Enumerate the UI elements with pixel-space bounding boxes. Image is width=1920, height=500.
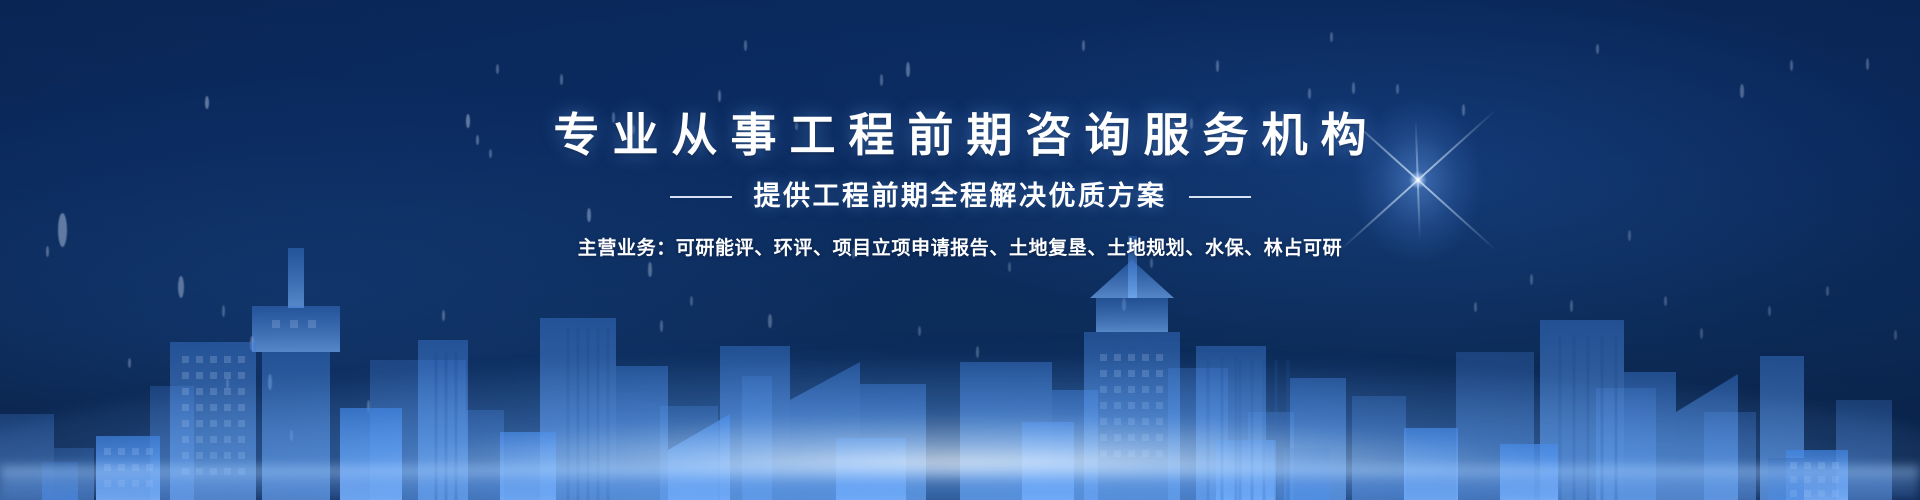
banner-content: 专业从事工程前期咨询服务机构 提供工程前期全程解决优质方案 主营业务：可研能评、… <box>0 0 1920 500</box>
business-scope-text: 主营业务：可研能评、环评、项目立项申请报告、土地复垦、土地规划、水保、林占可研 <box>578 239 1342 258</box>
page-title: 专业从事工程前期咨询服务机构 <box>541 112 1380 158</box>
subtitle-row: 提供工程前期全程解决优质方案 <box>670 183 1251 210</box>
page-subtitle: 提供工程前期全程解决优质方案 <box>754 183 1167 210</box>
dash-left-icon <box>670 196 732 198</box>
hero-banner: 专业从事工程前期咨询服务机构 提供工程前期全程解决优质方案 主营业务：可研能评、… <box>0 0 1920 500</box>
dash-right-icon <box>1189 196 1251 198</box>
